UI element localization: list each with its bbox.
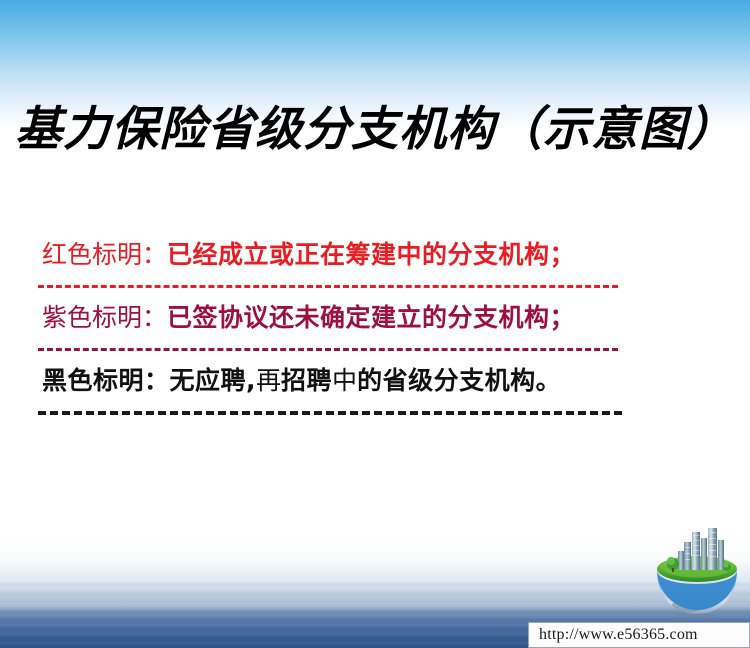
legend-body-red: 已经成立或正在筹建中的分支机构； [167, 240, 575, 269]
legend-body-black-part3: 招聘 [281, 366, 332, 395]
legend-text-red: 红色标明：已经成立或正在筹建中的分支机构； [38, 234, 638, 276]
legend-body-black-part1: 无应聘, [170, 366, 257, 395]
legend-body-black-part2: 再 [256, 366, 281, 395]
legend-block: 红色标明：已经成立或正在筹建中的分支机构； 紫色标明：已签协议还未确定建立的分支… [38, 234, 638, 424]
legend-divider-purple [38, 348, 618, 351]
legend-body-purple-part2: 还未确定建立的分支机构； [269, 303, 575, 332]
legend-lead-purple: 紫色标明： [42, 303, 167, 332]
legend-body-black-part4: 中 [332, 366, 357, 395]
legend-lead-black: 黑色标明： [42, 366, 170, 395]
slide-canvas: 基力保险省级分支机构（示意图） 红色标明：已经成立或正在筹建中的分支机构； 紫色… [0, 0, 750, 648]
legend-row-red: 红色标明：已经成立或正在筹建中的分支机构； [38, 234, 638, 288]
legend-lead-red: 红色标明： [42, 240, 167, 269]
legend-divider-red [38, 285, 618, 288]
legend-row-black: 黑色标明：无应聘,再招聘中的省级分支机构。 [38, 360, 638, 415]
legend-body-purple-part1: 已签协议 [167, 303, 269, 332]
slide-title: 基力保险省级分支机构（示意图） [0, 101, 750, 160]
legend-text-purple: 紫色标明：已签协议还未确定建立的分支机构； [38, 297, 638, 339]
watermark-url: http://www.e56365.com [528, 622, 750, 648]
legend-text-black: 黑色标明：无应聘,再招聘中的省级分支机构。 [38, 360, 638, 402]
legend-divider-black [38, 411, 622, 415]
legend-body-black-part5: 的省级分支机构。 [357, 366, 561, 395]
globe-city-logo-icon [651, 524, 743, 620]
legend-row-purple: 紫色标明：已签协议还未确定建立的分支机构； [38, 297, 638, 351]
